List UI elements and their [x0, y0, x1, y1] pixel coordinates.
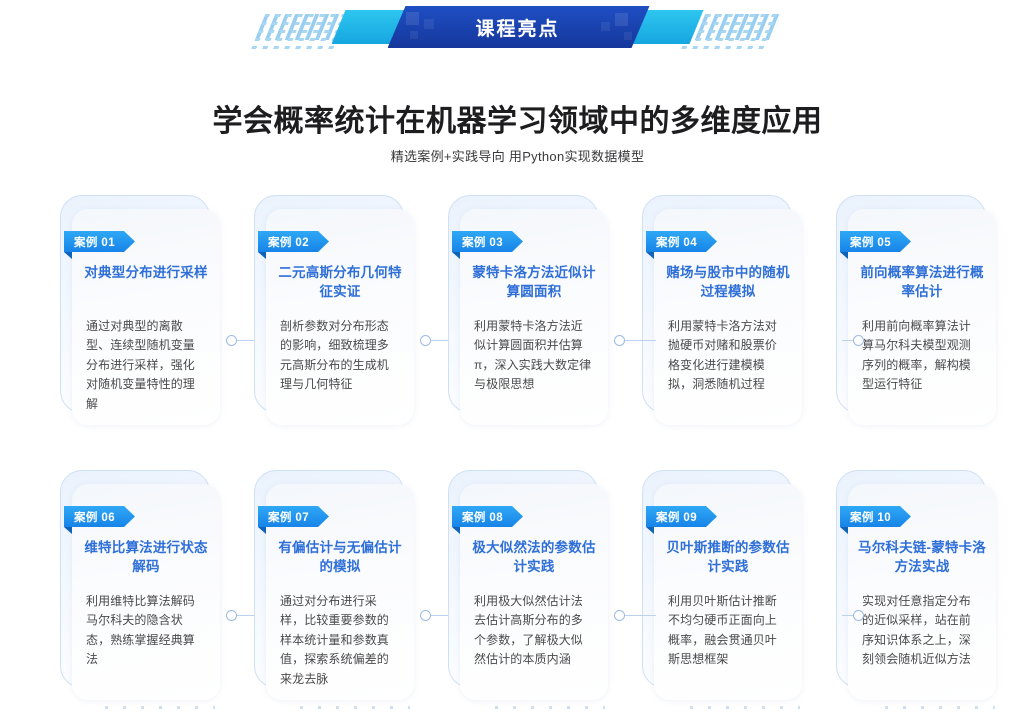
card-body: 利用蒙特卡洛方法近似计算圆面积并估算π，深入实践大数定律与极限思想	[474, 317, 594, 395]
case-card-grid: 案例 01 对典型分布进行采样 通过对典型的离散型、连续型随机变量分布进行采样，…	[60, 195, 996, 700]
card-surface: 案例 10 马尔科夫链-蒙特卡洛方法实战 实现对任意指定分布的近似采样，站在前序…	[848, 484, 996, 700]
card-body: 利用贝叶斯估计推断不均匀硬币正面向上概率，融会贯通贝叶斯思想框架	[668, 592, 788, 670]
connector-ring-icon	[226, 610, 237, 621]
case-badge: 案例 07	[258, 506, 329, 527]
case-badge: 案例 06	[64, 506, 135, 527]
banner-region: 课程亮点	[0, 6, 1035, 50]
card-title: 二元高斯分布几何特征实证	[276, 263, 404, 301]
case-card-01[interactable]: 案例 01 对典型分布进行采样 通过对典型的离散型、连续型随机变量分布进行采样，…	[60, 195, 220, 425]
case-card-06[interactable]: 案例 06 维特比算法进行状态解码 利用维特比算法解码马尔科夫的隐含状态，熟练掌…	[60, 470, 220, 700]
case-card-03[interactable]: 案例 03 蒙特卡洛方法近似计算圆面积 利用蒙特卡洛方法近似计算圆面积并估算π，…	[448, 195, 608, 425]
case-badge: 案例 05	[840, 231, 911, 252]
case-badge: 案例 04	[646, 231, 717, 252]
connector-ring-icon	[614, 610, 625, 621]
connector-line	[237, 615, 255, 617]
case-badge: 案例 08	[452, 506, 523, 527]
case-badge: 案例 10	[840, 506, 911, 527]
card-body: 通过对分布进行采样，比较重要参数的样本统计量和参数真值，探索系统偏差的来龙去脉	[280, 592, 400, 689]
connector-left	[842, 611, 864, 620]
card-surface: 案例 04 赌场与股市中的随机过程模拟 利用蒙特卡洛方法对抛硬币对赌和股票价格变…	[654, 209, 802, 425]
connector-left-stub	[640, 336, 656, 345]
card-title: 马尔科夫链-蒙特卡洛方法实战	[858, 538, 986, 576]
connector-ring-icon	[853, 335, 864, 346]
card-body: 利用蒙特卡洛方法对抛硬币对赌和股票价格变化进行建模模拟，洞悉随机过程	[668, 317, 788, 395]
case-card-08[interactable]: 案例 08 极大似然法的参数估计实践 利用极大似然估计法去估计高斯分布的多个参数…	[448, 470, 608, 700]
page-title: 学会概率统计在机器学习领域中的多维度应用	[0, 96, 1035, 140]
case-card-09[interactable]: 案例 09 贝叶斯推断的参数估计实践 利用贝叶斯估计推断不均匀硬币正面向上概率，…	[642, 470, 802, 700]
course-highlight-banner: 课程亮点	[332, 6, 704, 48]
card-body: 利用前向概率算法计算马尔科夫模型观测序列的概率，解构模型运行特征	[862, 317, 982, 395]
card-surface: 案例 05 前向概率算法进行概率估计 利用前向概率算法计算马尔科夫模型观测序列的…	[848, 209, 996, 425]
case-card-07[interactable]: 案例 07 有偏估计与无偏估计的模拟 通过对分布进行采样，比较重要参数的样本统计…	[254, 470, 414, 700]
connector-line	[640, 340, 656, 342]
card-body: 利用维特比算法解码马尔科夫的隐含状态，熟练掌握经典算法	[86, 592, 206, 670]
connector-left	[842, 336, 864, 345]
card-surface: 案例 06 维特比算法进行状态解码 利用维特比算法解码马尔科夫的隐含状态，熟练掌…	[72, 484, 220, 700]
card-surface: 案例 09 贝叶斯推断的参数估计实践 利用贝叶斯估计推断不均匀硬币正面向上概率，…	[654, 484, 802, 700]
connector-left-stub	[640, 611, 656, 620]
banner-label: 课程亮点	[332, 6, 704, 48]
card-title: 对典型分布进行采样	[82, 263, 210, 282]
card-body: 利用极大似然估计法去估计高斯分布的多个参数，了解极大似然估计的本质内涵	[474, 592, 594, 670]
card-surface: 案例 02 二元高斯分布几何特征实证 剖析参数对分布形态的影响，细致梳理多元高斯…	[266, 209, 414, 425]
dotted-decor-left	[105, 706, 215, 709]
card-body: 通过对典型的离散型、连续型随机变量分布进行采样，强化对随机变量特性的理解	[86, 317, 206, 414]
dotted-decor-mid2	[495, 706, 605, 709]
connector-line	[842, 615, 853, 617]
card-title: 蒙特卡洛方法近似计算圆面积	[470, 263, 598, 301]
connector-line	[640, 615, 656, 617]
card-surface: 案例 01 对典型分布进行采样 通过对典型的离散型、连续型随机变量分布进行采样，…	[72, 209, 220, 425]
case-badge: 案例 02	[258, 231, 329, 252]
case-card-02[interactable]: 案例 02 二元高斯分布几何特征实证 剖析参数对分布形态的影响，细致梳理多元高斯…	[254, 195, 414, 425]
connector-line	[842, 340, 853, 342]
page-subtitle: 精选案例+实践导向 用Python实现数据模型	[0, 146, 1035, 165]
case-badge: 案例 09	[646, 506, 717, 527]
connector-line	[431, 615, 449, 617]
connector-ring-icon	[614, 335, 625, 346]
connector-ring-icon	[420, 335, 431, 346]
connector-ring-icon	[226, 335, 237, 346]
card-title: 贝叶斯推断的参数估计实践	[664, 538, 792, 576]
case-card-04[interactable]: 案例 04 赌场与股市中的随机过程模拟 利用蒙特卡洛方法对抛硬币对赌和股票价格变…	[642, 195, 802, 425]
case-card-05[interactable]: 案例 05 前向概率算法进行概率估计 利用前向概率算法计算马尔科夫模型观测序列的…	[836, 195, 996, 425]
card-surface: 案例 07 有偏估计与无偏估计的模拟 通过对分布进行采样，比较重要参数的样本统计…	[266, 484, 414, 700]
card-title: 有偏估计与无偏估计的模拟	[276, 538, 404, 576]
case-badge: 案例 01	[64, 231, 135, 252]
card-title: 维特比算法进行状态解码	[82, 538, 210, 576]
connector-line	[237, 340, 255, 342]
connector-ring-icon	[420, 610, 431, 621]
card-surface: 案例 03 蒙特卡洛方法近似计算圆面积 利用蒙特卡洛方法近似计算圆面积并估算π，…	[460, 209, 608, 425]
card-body: 实现对任意指定分布的近似采样，站在前序知识体系之上，深刻领会随机近似方法	[862, 592, 982, 670]
card-title: 极大似然法的参数估计实践	[470, 538, 598, 576]
connector-line	[431, 340, 449, 342]
card-body: 剖析参数对分布形态的影响，细致梳理多元高斯分布的生成机理与几何特征	[280, 317, 400, 395]
dotted-decor-right	[885, 706, 995, 709]
case-card-10[interactable]: 案例 10 马尔科夫链-蒙特卡洛方法实战 实现对任意指定分布的近似采样，站在前序…	[836, 470, 996, 700]
dotted-decor-mid3	[690, 706, 800, 709]
card-title: 前向概率算法进行概率估计	[858, 263, 986, 301]
connector-ring-icon	[853, 610, 864, 621]
card-title: 赌场与股市中的随机过程模拟	[664, 263, 792, 301]
card-surface: 案例 08 极大似然法的参数估计实践 利用极大似然估计法去估计高斯分布的多个参数…	[460, 484, 608, 700]
dotted-decor-mid	[300, 706, 410, 709]
case-badge: 案例 03	[452, 231, 523, 252]
